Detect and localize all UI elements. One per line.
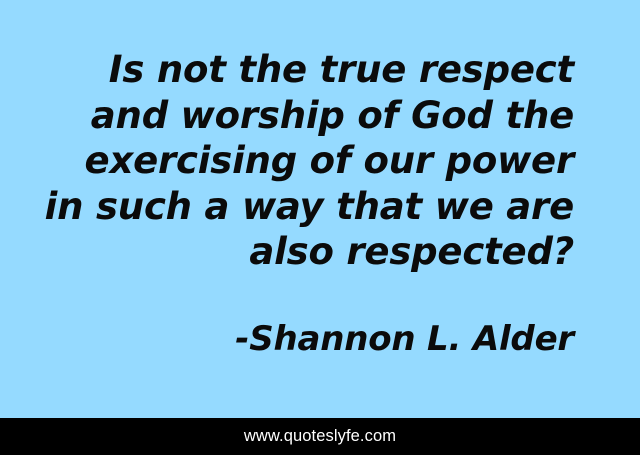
quote-card: Is not the true respect and worship of G… bbox=[0, 0, 640, 455]
site-footer-bar: www.quoteslyfe.com bbox=[0, 418, 640, 455]
footer-website-url: www.quoteslyfe.com bbox=[244, 427, 396, 446]
quote-text: Is not the true respect and worship of G… bbox=[30, 0, 574, 275]
quote-author: -Shannon L. Alder bbox=[30, 275, 574, 359]
quote-content-area: Is not the true respect and worship of G… bbox=[0, 0, 640, 418]
